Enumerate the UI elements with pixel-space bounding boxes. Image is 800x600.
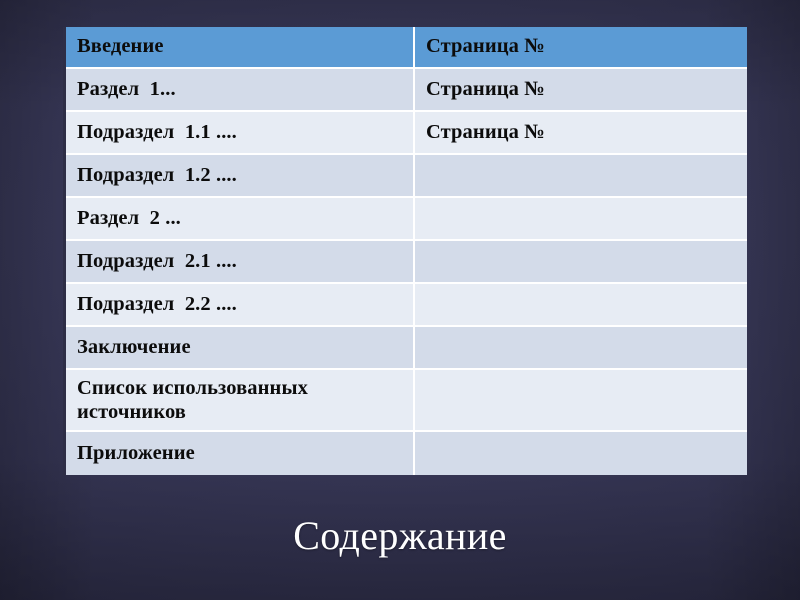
slide-canvas: Введение Страница № Раздел 1... Страница… xyxy=(0,0,800,600)
table-row: Подраздел 2.2 .... xyxy=(66,284,747,327)
row-entry-label-text: Список использованных источников xyxy=(77,377,397,425)
row-page-value xyxy=(415,198,747,241)
slide-title: Содержание xyxy=(0,512,800,559)
row-page-value xyxy=(415,370,747,432)
column-header-entry: Введение xyxy=(66,27,415,69)
table-row: Подраздел 1.2 .... xyxy=(66,155,747,198)
row-page-value xyxy=(415,241,747,284)
row-entry-label: Подраздел 2.1 .... xyxy=(66,241,415,284)
table-row: Приложение xyxy=(66,432,747,475)
row-page-value xyxy=(415,284,747,327)
row-page-value xyxy=(415,432,747,475)
row-entry-label: Подраздел 1.2 .... xyxy=(66,155,415,198)
table-row: Раздел 2 ... xyxy=(66,198,747,241)
table-of-contents-container: Введение Страница № Раздел 1... Страница… xyxy=(63,27,744,475)
table-row: Раздел 1... Страница № xyxy=(66,69,747,112)
column-header-page: Страница № xyxy=(415,27,747,69)
row-page-value xyxy=(415,155,747,198)
table-header-row: Введение Страница № xyxy=(66,27,747,69)
row-entry-label: Раздел 2 ... xyxy=(66,198,415,241)
table-of-contents: Введение Страница № Раздел 1... Страница… xyxy=(66,27,747,475)
row-page-value: Страница № xyxy=(415,112,747,155)
row-entry-label: Заключение xyxy=(66,327,415,370)
table-row: Подраздел 1.1 .... Страница № xyxy=(66,112,747,155)
row-entry-label: Раздел 1... xyxy=(66,69,415,112)
row-page-value xyxy=(415,327,747,370)
row-entry-label: Приложение xyxy=(66,432,415,475)
table-row: Заключение xyxy=(66,327,747,370)
row-entry-label: Подраздел 2.2 .... xyxy=(66,284,415,327)
row-page-value: Страница № xyxy=(415,69,747,112)
table-body: Раздел 1... Страница № Подраздел 1.1 ...… xyxy=(66,69,747,475)
row-entry-label: Список использованных источников xyxy=(66,370,415,432)
table-row: Подраздел 2.1 .... xyxy=(66,241,747,284)
table-row: Список использованных источников xyxy=(66,370,747,432)
table-header: Введение Страница № xyxy=(66,27,747,69)
row-entry-label: Подраздел 1.1 .... xyxy=(66,112,415,155)
